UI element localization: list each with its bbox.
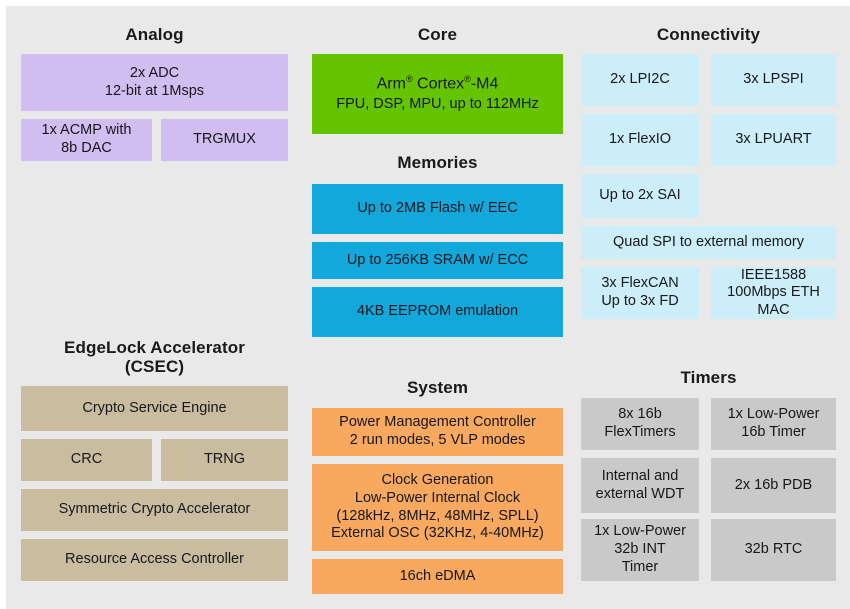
block-trgmux[interactable]: TRGMUX bbox=[161, 119, 288, 161]
connectivity-row-5: 3x FlexCAN Up to 3x FD IEEE1588 100Mbps … bbox=[581, 267, 836, 319]
group-core: Core Arm® Cortex®-M4 FPU, DSP, MPU, up t… bbox=[312, 14, 563, 134]
connectivity-row-1: 2x LPI2C 3x LPSPI bbox=[581, 54, 836, 106]
block-quad-spi[interactable]: Quad SPI to external memory bbox=[581, 226, 836, 259]
block-arm-cortex-m4[interactable]: Arm® Cortex®-M4 FPU, DSP, MPU, up to 112… bbox=[312, 54, 563, 134]
system-row-2: Clock Generation Low-Power Internal Cloc… bbox=[312, 464, 563, 551]
block-trng[interactable]: TRNG bbox=[161, 439, 288, 481]
system-row-3: 16ch eDMA bbox=[312, 559, 563, 594]
group-memories: Memories Up to 2MB Flash w/ EEC Up to 25… bbox=[312, 153, 563, 337]
block-rtc[interactable]: 32b RTC bbox=[711, 519, 836, 581]
block-lpi2c[interactable]: 2x LPI2C bbox=[581, 54, 699, 106]
block-lpuart[interactable]: 3x LPUART bbox=[711, 114, 836, 166]
core-row-1: Arm® Cortex®-M4 FPU, DSP, MPU, up to 112… bbox=[312, 54, 563, 134]
core-cpu-features: FPU, DSP, MPU, up to 112MHz bbox=[336, 95, 539, 115]
core-cpu-cortex: Cortex bbox=[417, 76, 464, 93]
block-flexcan[interactable]: 3x FlexCAN Up to 3x FD bbox=[581, 267, 699, 319]
block-flash[interactable]: Up to 2MB Flash w/ EEC bbox=[312, 184, 563, 234]
block-resource-access-controller[interactable]: Resource Access Controller bbox=[21, 539, 288, 581]
block-sai[interactable]: Up to 2x SAI bbox=[581, 174, 699, 218]
group-edgelock: EdgeLock Accelerator (CSEC) Crypto Servi… bbox=[21, 338, 288, 581]
memories-row-1: Up to 2MB Flash w/ EEC bbox=[312, 184, 563, 234]
block-lpspi[interactable]: 3x LPSPI bbox=[711, 54, 836, 106]
middle-column-spacer bbox=[312, 337, 563, 378]
edgelock-row-2: CRC TRNG bbox=[21, 439, 288, 481]
group-connectivity: Connectivity 2x LPI2C 3x LPSPI 1x FlexIO… bbox=[581, 14, 836, 319]
block-symmetric-crypto-accelerator[interactable]: Symmetric Crypto Accelerator bbox=[21, 489, 288, 531]
group-timers: Timers 8x 16b FlexTimers 1x Low-Power 16… bbox=[581, 368, 836, 581]
left-column-spacer bbox=[21, 161, 288, 338]
right-column-spacer bbox=[581, 319, 836, 368]
core-cpu-arm: Arm bbox=[377, 76, 406, 93]
block-watchdog[interactable]: Internal and external WDT bbox=[581, 458, 699, 513]
system-row-1: Power Management Controller 2 run modes,… bbox=[312, 408, 563, 456]
timers-row-1: 8x 16b FlexTimers 1x Low-Power 16b Timer bbox=[581, 398, 836, 450]
group-analog: Analog 2x ADC 12-bit at 1Msps 1x ACMP wi… bbox=[21, 14, 288, 161]
core-cpu-m4: -M4 bbox=[471, 76, 499, 93]
block-adc[interactable]: 2x ADC 12-bit at 1Msps bbox=[21, 54, 288, 111]
block-ethernet-mac[interactable]: IEEE1588 100Mbps ETH MAC bbox=[711, 267, 836, 319]
diagram-columns: Analog 2x ADC 12-bit at 1Msps 1x ACMP wi… bbox=[6, 6, 850, 609]
block-crc[interactable]: CRC bbox=[21, 439, 152, 481]
edgelock-row-3: Symmetric Crypto Accelerator bbox=[21, 489, 288, 531]
edgelock-row-1: Crypto Service Engine bbox=[21, 386, 288, 431]
analog-row-2: 1x ACMP with 8b DAC TRGMUX bbox=[21, 119, 288, 161]
block-flextimers[interactable]: 8x 16b FlexTimers bbox=[581, 398, 699, 450]
connectivity-row-4: Quad SPI to external memory bbox=[581, 226, 836, 259]
core-cpu-line: Arm® Cortex®-M4 bbox=[377, 73, 499, 95]
block-clock-generation[interactable]: Clock Generation Low-Power Internal Cloc… bbox=[312, 464, 563, 551]
block-sram[interactable]: Up to 256KB SRAM w/ ECC bbox=[312, 242, 563, 279]
group-title-edgelock: EdgeLock Accelerator (CSEC) bbox=[21, 338, 288, 376]
block-diagram-panel: Analog 2x ADC 12-bit at 1Msps 1x ACMP wi… bbox=[6, 6, 850, 609]
block-low-power-32b-int-timer[interactable]: 1x Low-Power 32b INT Timer bbox=[581, 519, 699, 581]
block-pdb[interactable]: 2x 16b PDB bbox=[711, 458, 836, 513]
block-crypto-service-engine[interactable]: Crypto Service Engine bbox=[21, 386, 288, 431]
group-title-core: Core bbox=[312, 25, 563, 44]
group-title-timers: Timers bbox=[581, 368, 836, 387]
group-title-connectivity: Connectivity bbox=[581, 25, 836, 44]
block-power-management-controller[interactable]: Power Management Controller 2 run modes,… bbox=[312, 408, 563, 456]
column-left: Analog 2x ADC 12-bit at 1Msps 1x ACMP wi… bbox=[6, 14, 302, 609]
column-right: Connectivity 2x LPI2C 3x LPSPI 1x FlexIO… bbox=[573, 14, 850, 609]
connectivity-row-2: 1x FlexIO 3x LPUART bbox=[581, 114, 836, 166]
block-edma[interactable]: 16ch eDMA bbox=[312, 559, 563, 594]
core-trademark-2: ® bbox=[464, 74, 471, 84]
block-flexio[interactable]: 1x FlexIO bbox=[581, 114, 699, 166]
group-title-analog: Analog bbox=[21, 25, 288, 44]
block-low-power-16b-timer[interactable]: 1x Low-Power 16b Timer bbox=[711, 398, 836, 450]
connectivity-row-3: Up to 2x SAI bbox=[581, 174, 836, 218]
group-title-memories: Memories bbox=[312, 153, 563, 172]
group-system: System Power Management Controller 2 run… bbox=[312, 378, 563, 594]
analog-row-1: 2x ADC 12-bit at 1Msps bbox=[21, 54, 288, 111]
timers-row-3: 1x Low-Power 32b INT Timer 32b RTC bbox=[581, 519, 836, 581]
group-title-system: System bbox=[312, 378, 563, 397]
column-middle: Core Arm® Cortex®-M4 FPU, DSP, MPU, up t… bbox=[302, 14, 573, 609]
core-trademark-1: ® bbox=[406, 74, 413, 84]
edgelock-row-4: Resource Access Controller bbox=[21, 539, 288, 581]
memories-row-2: Up to 256KB SRAM w/ ECC bbox=[312, 242, 563, 279]
timers-row-2: Internal and external WDT 2x 16b PDB bbox=[581, 458, 836, 513]
block-eeprom[interactable]: 4KB EEPROM emulation bbox=[312, 287, 563, 337]
block-acmp-dac[interactable]: 1x ACMP with 8b DAC bbox=[21, 119, 152, 161]
memories-row-3: 4KB EEPROM emulation bbox=[312, 287, 563, 337]
